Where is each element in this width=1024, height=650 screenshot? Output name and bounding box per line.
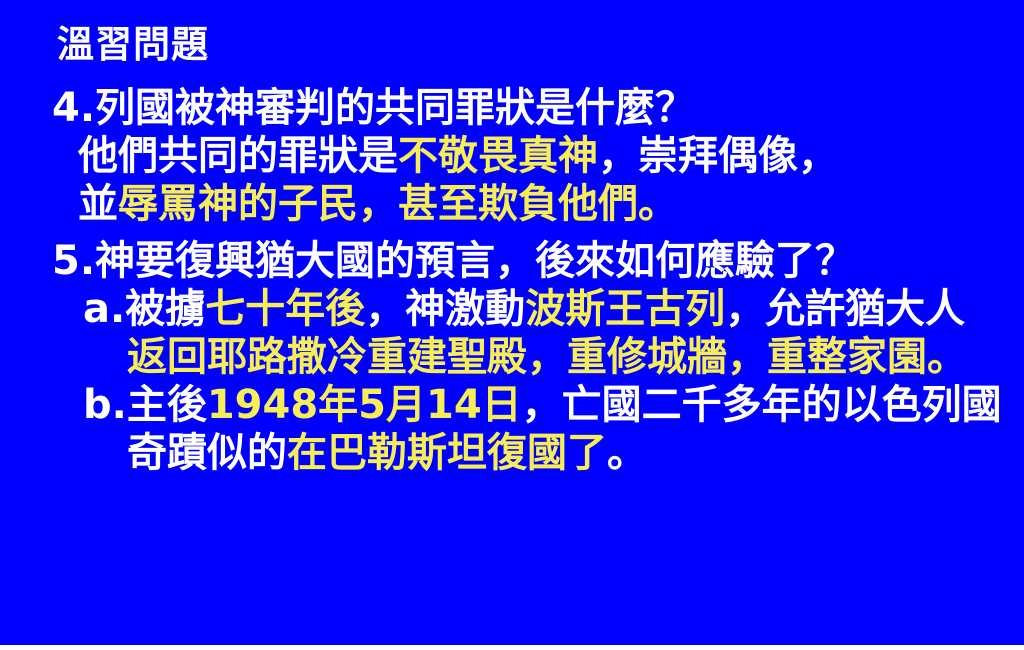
highlighted-text: 辱罵神的子民，甚至欺負他們。	[118, 181, 678, 227]
body-text: 被擄	[125, 286, 205, 332]
list-marker: a.	[83, 286, 125, 332]
body-text: ，神激動	[365, 286, 525, 332]
question-line: 4.列國被神審判的共同罪狀是什麼？	[52, 84, 1002, 132]
slide-canvas: 溫習問題 4.列國被神審判的共同罪狀是什麼？他們共同的罪狀是不敬畏真神，崇拜偶像…	[0, 0, 1024, 645]
question-line: 5.神要復興猶大國的預言，後來如何應驗了？	[52, 237, 1002, 285]
highlighted-text: 七十年後	[205, 286, 365, 332]
page-title: 溫習問題	[57, 26, 209, 65]
highlighted-text: 波斯王古列	[525, 286, 725, 332]
body-text: 主後	[127, 382, 207, 428]
body-text: 並	[78, 181, 118, 227]
highlighted-text: 返回耶路撒冷重建聖殿，重修城牆，重整家園。	[127, 334, 967, 380]
body-text: 神要復興猶大國的預言，後來如何應驗了？	[95, 238, 855, 284]
answer-line: 奇蹟似的在巴勒斯坦復國了。	[52, 429, 1002, 477]
answer-sub-item: a.被擄七十年後，神激動波斯王古列，允許猶大人	[52, 285, 1002, 333]
question-list: 4.列國被神審判的共同罪狀是什麼？他們共同的罪狀是不敬畏真神，崇拜偶像，並辱罵神…	[52, 84, 1002, 477]
highlighted-text: 不敬畏真神	[398, 133, 598, 179]
body-text: 。	[607, 430, 647, 476]
list-marker: 5.	[52, 238, 95, 284]
body-text: ，崇拜偶像，	[598, 133, 838, 179]
body-text: ，允許猶大人	[725, 286, 965, 332]
highlighted-text: 1948年5月14日	[207, 382, 522, 428]
body-text: 列國被神審判的共同罪狀是什麼？	[95, 85, 695, 131]
highlighted-text: 在巴勒斯坦復國了	[287, 430, 607, 476]
list-marker: b.	[83, 382, 127, 428]
answer-sub-item: b.主後1948年5月14日，亡國二千多年的以色列國	[52, 381, 1002, 429]
body-text: ，亡國二千多年的以色列國	[522, 382, 1002, 428]
body-text: 奇蹟似的	[127, 430, 287, 476]
answer-line: 並辱罵神的子民，甚至欺負他們。	[52, 180, 1002, 228]
list-marker: 4.	[52, 85, 95, 131]
bottom-strip	[0, 645, 1024, 650]
answer-line: 返回耶路撒冷重建聖殿，重修城牆，重整家園。	[52, 333, 1002, 381]
body-text: 他們共同的罪狀是	[78, 133, 398, 179]
answer-line: 他們共同的罪狀是不敬畏真神，崇拜偶像，	[52, 132, 1002, 180]
